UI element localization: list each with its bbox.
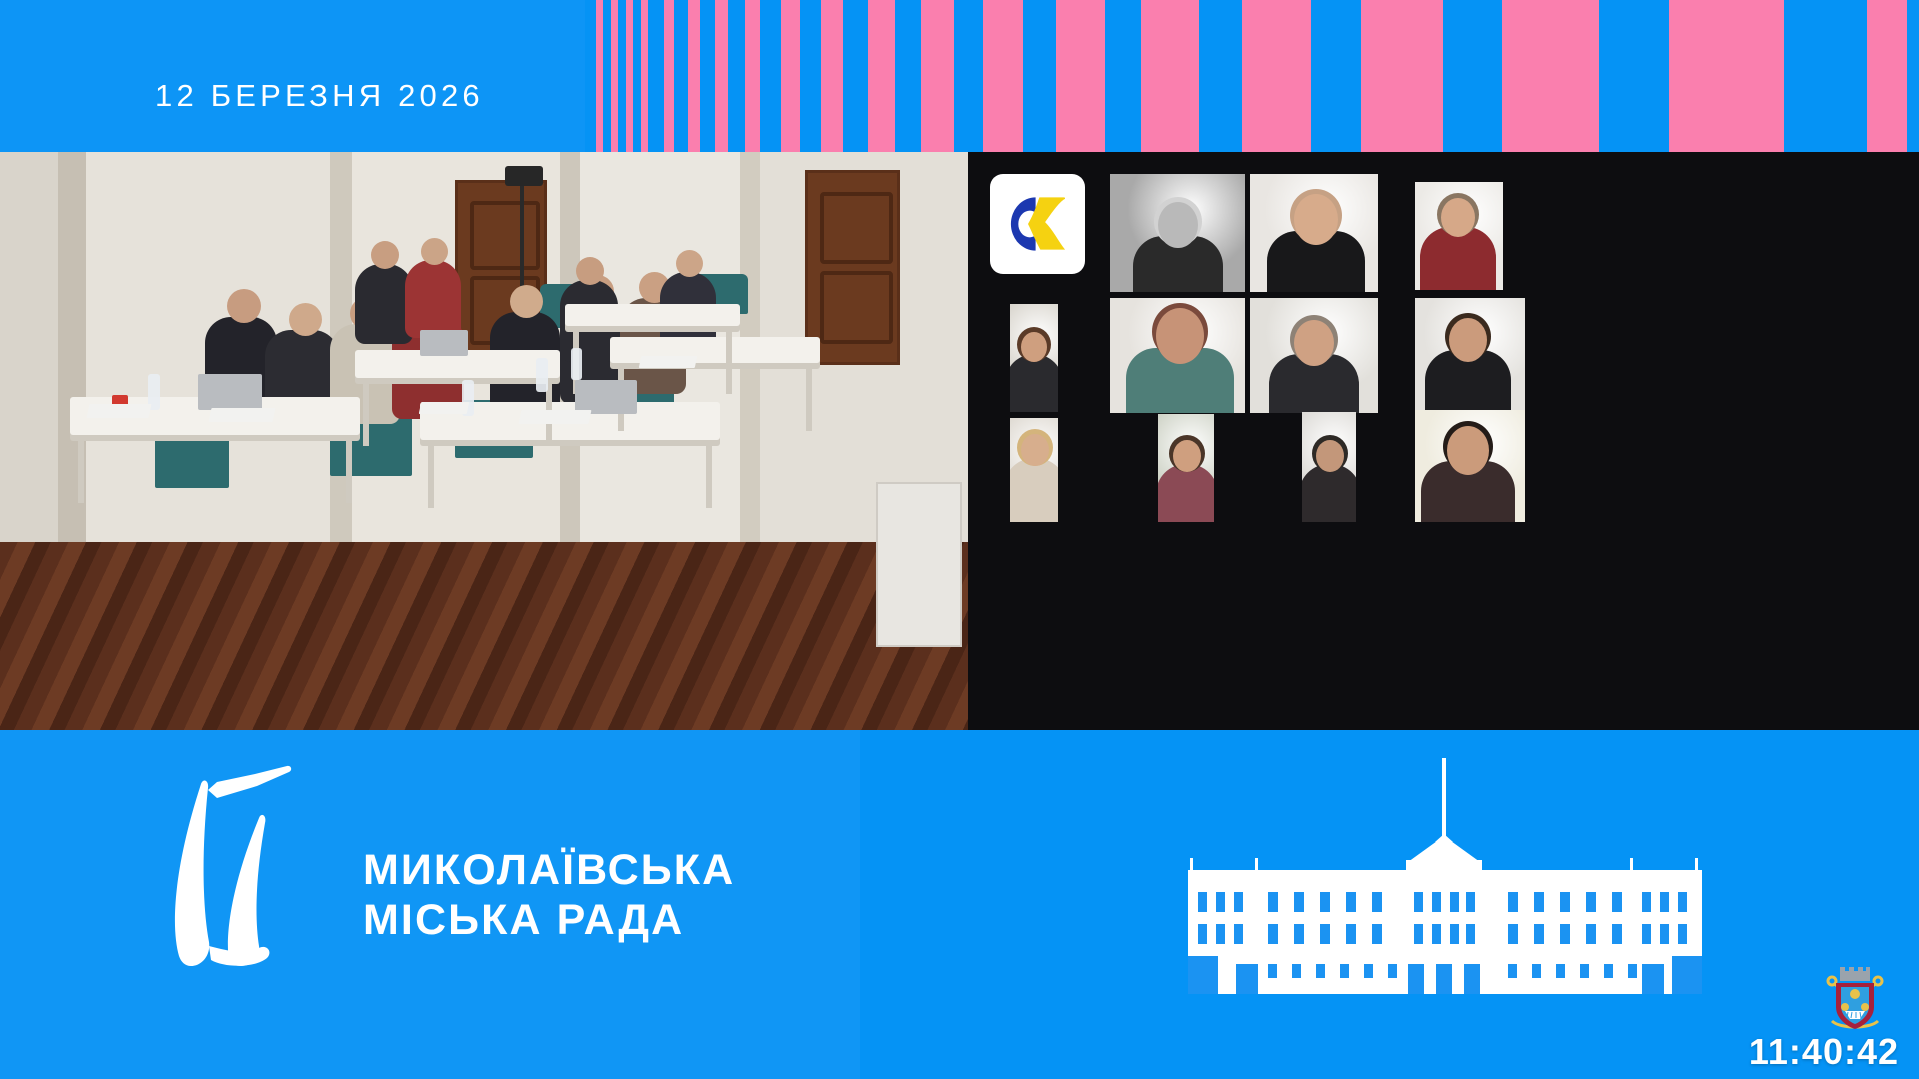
org-line-2: МІСЬКА РАДА xyxy=(363,895,735,945)
table-paper xyxy=(519,410,592,424)
header-stripe xyxy=(1669,0,1784,152)
participant-torso xyxy=(1158,464,1214,522)
attendee-head xyxy=(371,241,399,269)
participant-torso xyxy=(1302,464,1356,522)
header-stripe xyxy=(688,0,700,152)
city-hall-building-icon xyxy=(1160,752,1730,1002)
room-table xyxy=(565,304,740,326)
participant-tile[interactable] xyxy=(1415,182,1503,290)
laptop xyxy=(198,374,262,410)
participant-torso xyxy=(1010,458,1058,522)
table-paper xyxy=(87,404,152,418)
sk-logo-tile xyxy=(990,174,1085,274)
participant-tile[interactable] xyxy=(1250,174,1378,292)
header-stripe xyxy=(745,0,760,152)
header-stripe xyxy=(781,0,800,152)
participant-tile[interactable] xyxy=(1158,414,1214,522)
participant-face xyxy=(1294,320,1334,366)
room-chair xyxy=(155,434,229,488)
attendee-head xyxy=(227,289,261,323)
table-leg xyxy=(726,326,732,394)
participant-face xyxy=(1294,194,1338,245)
header-stripe xyxy=(983,0,1023,152)
conference-room-camera-feed[interactable] xyxy=(0,152,968,730)
header-stripe xyxy=(821,0,843,152)
participant-tile[interactable] xyxy=(1110,174,1245,292)
mykolaiv-coat-of-arms-icon xyxy=(1818,963,1892,1037)
header-stripe xyxy=(1867,0,1907,152)
header-stripe xyxy=(641,0,648,152)
header-stripe xyxy=(611,0,618,152)
mykolaiv-sail-logo-icon xyxy=(155,760,330,970)
organization-wordmark: МИКОЛАЇВСЬКА МІСЬКА РАДА xyxy=(363,845,735,946)
date-panel xyxy=(0,0,585,152)
header-stripe xyxy=(715,0,728,152)
table-bottle xyxy=(536,358,548,392)
table-leg xyxy=(346,435,352,503)
broadcast-date: 12 БЕРЕЗНЯ 2026 xyxy=(155,78,484,114)
header-stripe xyxy=(1242,0,1311,152)
table-paper xyxy=(419,402,470,414)
room-door xyxy=(805,170,900,365)
table-paper xyxy=(209,408,276,422)
participant-face xyxy=(1447,426,1489,475)
participant-face xyxy=(1021,332,1047,362)
participant-tile[interactable] xyxy=(1250,298,1378,413)
participant-face xyxy=(1158,202,1198,248)
attendee-head xyxy=(421,238,448,265)
room-cabinet xyxy=(876,482,962,647)
laptop xyxy=(575,380,637,414)
org-line-1: МИКОЛАЇВСЬКА xyxy=(363,845,735,895)
video-region xyxy=(0,152,1919,730)
room-attendee xyxy=(405,260,461,338)
laptop xyxy=(420,330,468,356)
table-bottle xyxy=(571,348,582,380)
participant-tile[interactable] xyxy=(1415,298,1525,413)
broadcast-clock: 11:40:42 xyxy=(1749,1031,1899,1073)
attendee-head xyxy=(510,285,543,318)
header-stripe xyxy=(1502,0,1599,152)
decorative-stripe-pattern xyxy=(585,0,1919,152)
header-stripe xyxy=(596,0,603,152)
header-stripe xyxy=(921,0,954,152)
participant-face xyxy=(1156,308,1204,364)
video-conference-grid[interactable] xyxy=(968,152,1919,730)
participant-tile[interactable] xyxy=(1302,412,1356,522)
participant-face xyxy=(1449,318,1487,362)
table-leg xyxy=(706,440,712,508)
broadcast-screen: 12 БЕРЕЗНЯ 2026 xyxy=(0,0,1919,1079)
attendee-head xyxy=(289,303,322,336)
parquet-floor xyxy=(0,542,968,730)
header-stripe xyxy=(868,0,895,152)
participant-tile[interactable] xyxy=(1010,304,1058,412)
attendee-head xyxy=(576,257,604,285)
participant-tile[interactable] xyxy=(1415,410,1525,522)
table-leg xyxy=(428,440,434,508)
participant-tile[interactable] xyxy=(1110,298,1245,413)
header-stripe xyxy=(1361,0,1443,152)
table-leg xyxy=(363,378,369,446)
table-paper xyxy=(639,356,698,368)
header-stripe xyxy=(1141,0,1199,152)
table-leg xyxy=(78,435,84,503)
attendee-head xyxy=(676,250,703,277)
camera-head xyxy=(505,166,543,186)
participant-torso xyxy=(1010,354,1058,412)
header-band: 12 БЕРЕЗНЯ 2026 xyxy=(0,0,1919,152)
table-leg xyxy=(806,363,812,431)
header-stripe xyxy=(1056,0,1105,152)
sk-monogram-icon xyxy=(990,174,1085,274)
header-stripe xyxy=(626,0,633,152)
header-stripe xyxy=(664,0,674,152)
participant-tile[interactable] xyxy=(1010,418,1058,522)
